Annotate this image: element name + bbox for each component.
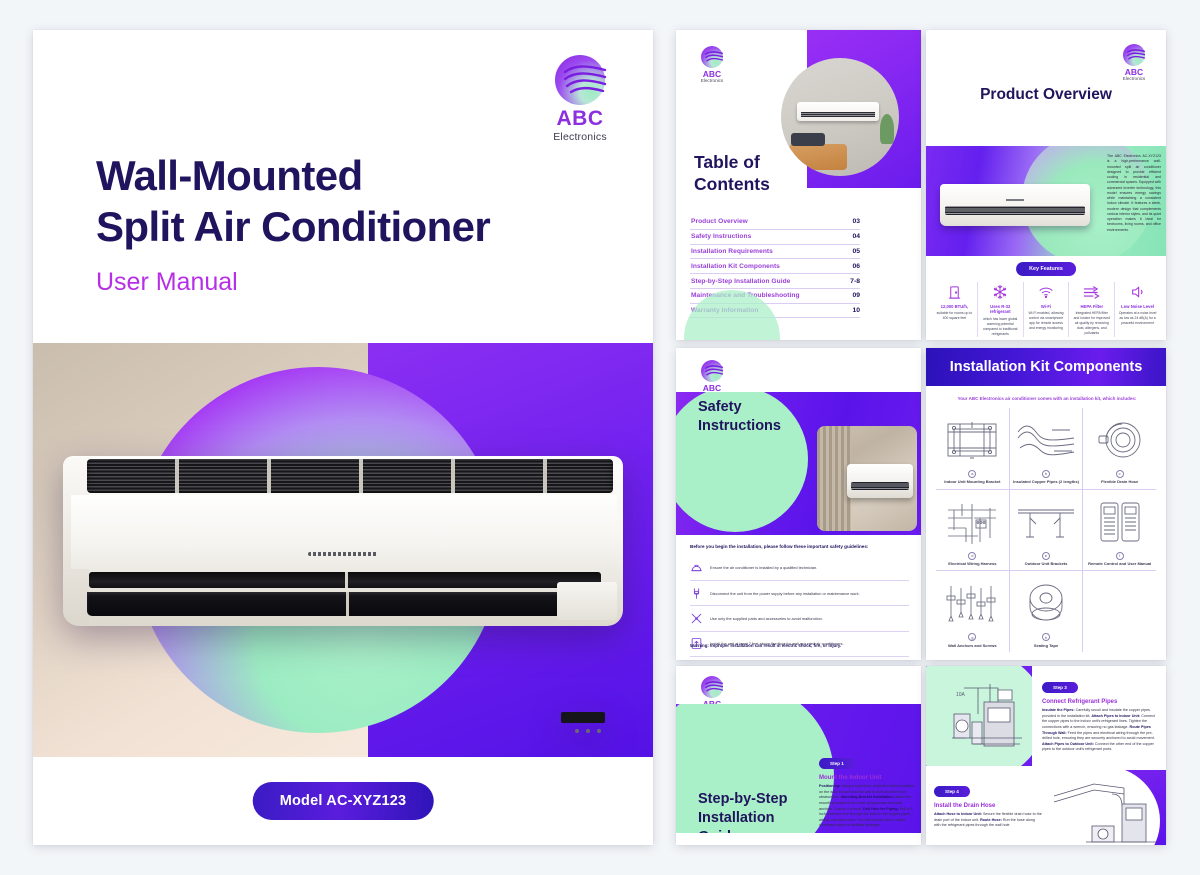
safety-list-item: Use only the supplied parts and accessor… [690,606,909,631]
wave-icon [704,50,724,65]
toc-entry-page: 04 [852,233,860,240]
step-1-block: Step 1 Mount the Indoor Unit Positioning… [819,752,915,829]
cover-title-block: Wall-Mounted Split Air Conditioner User … [96,150,616,297]
toc-heading-line-1: Table of [694,152,760,172]
copper-pipes-art [1012,411,1081,470]
step-title: Connect Refrigerant Pipes [1042,699,1160,705]
ac-display [561,712,605,723]
feature-item-room: 12,000 BTU/h, suitable for rooms up to 4… [932,282,978,337]
kit-badge: g [968,633,976,641]
kit-component-wiring: d Electrical Wiring Harness [936,490,1010,571]
wave-icon [1126,48,1146,63]
toc-entry-label: Product Overview [691,218,748,225]
toc-entry-page: 03 [852,218,860,225]
ac-brand-plate [1006,199,1024,201]
toc-heading-line-2: Contents [694,174,770,194]
ac-led [586,729,590,733]
ac-brand-plate [308,552,378,556]
page-step-by-step-guide[interactable]: ABC Electronics Step-by-Step Installatio… [676,666,921,845]
logo-mark [701,360,723,382]
kit-label: Outdoor Unit Brackets [1025,561,1068,566]
remote-art [1085,493,1154,552]
safety-item-text: Disconnect the unit from the power suppl… [710,591,860,596]
safety-item-text: Ensure the air conditioner is installed … [710,565,817,570]
kit-label: Indoor Unit Mounting Bracket [944,479,1000,484]
kit-component-outdoor-bracket: e Outdoor Unit Brackets [1010,490,1084,571]
toc-entry-page: 06 [852,263,860,270]
logo-mark [701,676,723,698]
wave-icon [561,63,609,97]
drain-hose-art [1085,411,1154,470]
bracket-art [938,411,1007,470]
photo-ac-unit [797,102,879,121]
feature-desc: which has lower global warming potential… [981,317,1020,337]
photo-plant [880,114,894,144]
kit-badge: b [1042,470,1050,478]
logo-mark [1123,44,1145,66]
feature-title: Uses R-32 refrigerant [981,304,1020,315]
kit-component-tape: h Sealing Tape [1010,571,1084,652]
feature-item-wifi: Wi-Fi Wi-Fi enabled, allowing control vi… [1024,282,1070,337]
step-title: Install the Drain Hose [934,803,1042,809]
kit-component-remote: f Remote Control and User Manual [1083,490,1156,571]
kit-component-copper-pipes: b Insulated Copper Pipes (2 lengths) [1010,408,1084,489]
tools-icon [690,612,703,625]
step-title: Mount the Indoor Unit [819,775,915,781]
overview-ac-photo [940,184,1090,226]
toc-entry-label: Safety Instructions [691,233,751,240]
plug-icon [690,587,703,600]
step-pill: Step 1 [819,758,855,770]
step-body: Positioning: Using a spirit level, mark … [819,784,915,829]
anchors-art [938,574,1007,633]
kit-heading: Installation Kit Components [950,359,1143,375]
page-cover: ABC Electronics Wall-Mounted Split Air C… [33,30,653,845]
overview-hero-band: The ABC Electronics AC-XYZ123 is a high-… [926,146,1166,256]
step-body: Attach Hose to Indoor Unit: Secure the f… [934,812,1042,829]
kit-label: Wall Anchors and Screws [948,643,997,648]
safety-list-item: Ensure proper ventilation around the uni… [690,657,909,660]
step-body: Insulate the Pipes: Carefully uncoil and… [1042,708,1160,753]
feature-desc: Wi-Fi enabled, allowing control via smar… [1027,311,1066,331]
page-title: Wall-Mounted Split Air Conditioner [96,150,616,252]
cover-subtitle: User Manual [96,268,616,297]
logo-mark [701,46,723,68]
overview-paragraph: The ABC Electronics AC-XYZ123 is a high-… [1107,154,1161,233]
kit-badge: h [1042,633,1050,641]
guide-heading-line-1: Step-by-Step [698,791,787,807]
kit-badge: f [1116,552,1124,560]
feature-title: HEPA Filter [1072,304,1111,309]
safety-list-item: Ensure the air conditioner is installed … [690,556,909,581]
toc-entry-page: 10 [852,307,860,314]
toc-entry[interactable]: Safety Instructions 04 [690,230,860,245]
feature-desc: Operates at a noise level as low as 24 d… [1118,311,1157,326]
kit-badge: a [968,470,976,478]
logo-tagline: Electronics [541,131,619,143]
ac-indicator-lights [575,729,601,733]
brand-logo: ABC Electronics [541,55,619,143]
step-4-section: Step 4 Install the Drain Hose Attach Hos… [926,770,1166,845]
toc-entry-page: 7-8 [850,278,860,285]
page-safety-instructions[interactable]: ABC Electronics Safety Instructions Befo… [676,348,921,660]
kit-label: Flexible Drain Hose [1101,479,1138,484]
wave-icon [704,680,724,695]
feature-item-hepa: HEPA Filter Integrated HEPA filter and i… [1069,282,1115,337]
feature-title: Wi-Fi [1027,304,1066,309]
toc-heading: Table of Contents [694,152,770,196]
step-3-section: 10A Step 3 Connect Refrigerant Pipes Ins… [926,666,1166,766]
step-pill: Step 3 [1042,682,1078,694]
guide-hero-band: Step-by-Step Installation Guide Step 1 M… [676,704,921,833]
brand-logo: ABC Electronics [1112,44,1156,82]
feature-title: Low Noise Level [1118,304,1157,309]
photo-sofa [789,144,847,170]
page-steps-3-and-4[interactable]: 10A Step 3 Connect Refrigerant Pipes Ins… [926,666,1166,845]
ac-intake-grille [87,459,613,493]
safety-list-item: Disconnect the unit from the power suppl… [690,581,909,606]
kit-row: a Indoor Unit Mounting Bracket b Insulat… [936,408,1156,490]
toc-entry-label: Installation Requirements [691,248,773,255]
air-conditioner-unit-photo [63,456,623,626]
cover-hero-image [33,343,653,757]
safety-install-photo [817,426,917,531]
model-badge: Model AC-XYZ123 [253,782,434,820]
kit-component-anchors: g Wall Anchors and Screws [936,571,1010,652]
kit-badge: c [1116,470,1124,478]
toc-entry[interactable]: Product Overview 03 [690,215,860,230]
kit-components-grid: a Indoor Unit Mounting Bracket b Insulat… [936,408,1156,652]
ac-louver [87,592,605,616]
logo-tagline: Electronics [690,79,734,84]
photo-ac-unit [847,464,913,498]
logo-tagline: Electronics [1112,77,1156,82]
toc-entry-page: 05 [852,248,860,255]
toc-entry[interactable]: Installation Kit Components 06 [690,259,860,274]
step-3-block: Step 3 Connect Refrigerant Pipes Insulat… [1042,676,1160,753]
feature-title: 12,000 BTU/h, [935,304,974,309]
airflow-icon [1072,282,1111,302]
feature-desc: suitable for rooms up to 400 square feet [935,311,974,321]
kit-badge: d [968,552,976,560]
svg-text:10A: 10A [956,692,966,698]
safety-heading-line-1: Safety [698,399,742,415]
kit-label: Electrical Wiring Harness [948,561,996,566]
cover-footer: Model AC-XYZ123 [33,757,653,845]
logo-mark [555,55,605,105]
safety-heading: Safety Instructions [698,398,781,435]
key-features-row: 12,000 BTU/h, suitable for rooms up to 4… [932,282,1160,337]
step-pill: Step 4 [934,786,970,798]
kit-badge: e [1042,552,1050,560]
toc-entry[interactable]: Installation Requirements 05 [690,245,860,260]
photo-window-blind [817,426,851,531]
wiring-art [938,493,1007,552]
cover-header: ABC Electronics Wall-Mounted Split Air C… [33,30,653,343]
kit-component-drain-hose: c Flexible Drain Hose [1083,408,1156,489]
ac-led [597,729,601,733]
page-table-of-contents[interactable]: ABC Electronics Table of Contents Produc… [676,30,921,340]
kit-intro: Your ABC Electronics air conditioner com… [940,396,1154,401]
logo-wordmark: ABC [541,108,619,129]
guide-heading: Step-by-Step Installation Guide [698,790,787,833]
kit-empty-cell [1083,571,1156,652]
title-line-1: Wall-Mounted [96,152,363,199]
feature-item-noise: Low Noise Level Operates at a noise leve… [1115,282,1160,337]
key-features-badge: Key Features [1016,262,1076,276]
safety-warning: Warning: Improper installation can resul… [690,643,909,648]
ac-front-panel [71,495,617,569]
brand-logo: ABC Electronics [690,46,734,84]
step-4-block: Step 4 Install the Drain Hose Attach Hos… [934,780,1042,829]
safety-item-text: Use only the supplied parts and accessor… [710,616,823,621]
ac-outlet-vent [945,206,1085,215]
page-product-overview[interactable]: ABC Electronics Product Overview The ABC… [926,30,1166,340]
room-icon [935,282,974,302]
outdoor-bracket-art [1012,493,1081,552]
kit-row: g Wall Anchors and Screws h Sealing Tape [936,571,1156,652]
safety-heading-line-2: Instructions [698,418,781,434]
toc-entry-label: Step-by-Step Installation Guide [691,278,790,285]
kit-row: d Electrical Wiring Harness e Outdoor Un… [936,490,1156,572]
safety-intro: Before you begin the installation, pleas… [690,544,909,549]
title-line-2: Split Air Conditioner [96,203,490,250]
feature-item-refrigerant: Uses R-32 refrigerant which has lower gl… [978,282,1024,337]
ac-led [575,729,579,733]
drain-hose-diagram [1052,774,1160,845]
hardhat-icon [690,562,703,575]
snowflake-icon [981,282,1020,302]
tape-art [1012,574,1081,633]
kit-title-bar: Installation Kit Components [926,348,1166,386]
speaker-icon [1118,282,1157,302]
feature-desc: Integrated HEPA filter and ionizer for i… [1072,311,1111,336]
wifi-icon [1027,282,1066,302]
kit-label: Insulated Copper Pipes (2 lengths) [1013,479,1079,484]
wave-icon [704,364,724,379]
kit-component-bracket: a Indoor Unit Mounting Bracket [936,408,1010,489]
guide-heading-line-3: Guide [698,829,739,833]
kit-label: Sealing Tape [1034,643,1058,648]
kit-label: Remote Control and User Manual [1088,561,1151,566]
toc-entry-page: 09 [852,292,860,299]
toc-entry[interactable]: Step-by-Step Installation Guide 7-8 [690,274,860,289]
guide-heading-line-2: Installation [698,810,775,826]
overview-heading: Product Overview [926,86,1166,104]
document-preview-canvas: ABC Electronics Wall-Mounted Split Air C… [0,0,1200,875]
outdoor-unit-diagram: 10A [944,678,1034,758]
ac-control-panel [557,582,617,620]
toc-room-photo [781,58,899,176]
toc-entry-label: Installation Kit Components [691,263,780,270]
page-installation-kit-components[interactable]: Installation Kit Components Your ABC Ele… [926,348,1166,660]
ac-outlet-vent [89,572,601,588]
